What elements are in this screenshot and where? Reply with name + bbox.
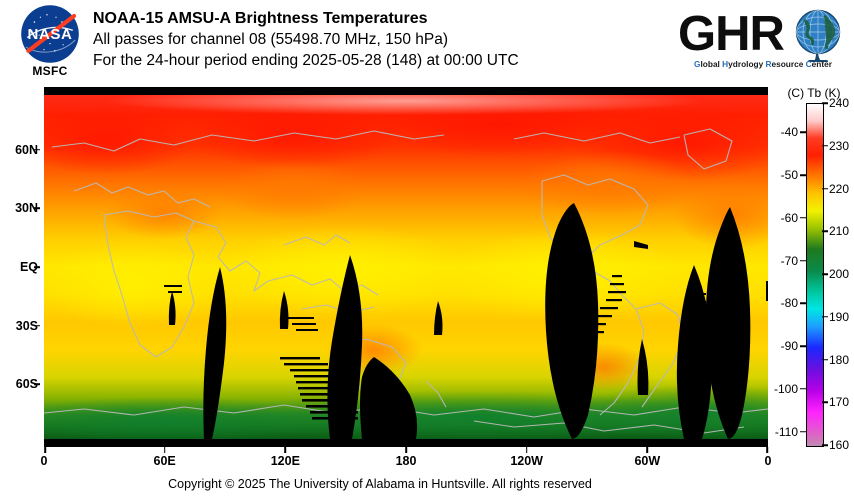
latitude-tick-mark (34, 383, 40, 385)
ghrc-wordmark-icon: GHR (676, 4, 848, 62)
colorbar-label-kelvin: 180 (829, 353, 849, 367)
colorbar-tick-celsius (800, 388, 806, 390)
longitude-tick-mark (526, 447, 528, 453)
colorbar-tick-celsius (800, 260, 806, 262)
title-subline-channel: All passes for channel 08 (55498.70 MHz,… (93, 29, 653, 50)
colorbar-label-celsius: -50 (781, 168, 798, 182)
colorbar-label-kelvin: 190 (829, 310, 849, 324)
longitude-tick-mark (766, 447, 768, 453)
colorbar-tick-kelvin (822, 145, 828, 147)
svg-text:NASA: NASA (28, 26, 73, 43)
ghrc-logo: GHR Global Hydrology Resource Center (676, 4, 848, 82)
longitude-tick-label: 0 (41, 454, 48, 468)
nasa-logo-caption: MSFC (12, 64, 88, 78)
svg-text:GHR: GHR (678, 7, 785, 61)
ghrc-subtitle: Global Hydrology Resource Center (678, 59, 848, 69)
longitude-tick-label: 180 (396, 454, 417, 468)
colorbar-label-kelvin: 240 (829, 96, 849, 110)
nasa-logo: NASA MSFC (12, 4, 88, 84)
map-plot-area[interactable] (44, 95, 768, 439)
colorbar-label-kelvin: 220 (829, 182, 849, 196)
longitude-tick-mark (285, 447, 287, 453)
colorbar-tick-kelvin (822, 231, 828, 233)
map-frame (44, 87, 768, 447)
colorbar-tick-celsius (800, 303, 806, 305)
latitude-axis-ticks (0, 87, 44, 447)
colorbar (806, 103, 824, 447)
colorbar-label-celsius: -40 (781, 125, 798, 139)
latitude-tick-mark (34, 149, 40, 151)
latitude-tick-mark (34, 266, 40, 268)
title-subline-period: For the 24-hour period ending 2025-05-28… (93, 50, 653, 71)
longitude-tick-label: 120W (510, 454, 543, 468)
latitude-tick-mark (34, 325, 40, 327)
header: NASA MSFC NOAA-15 AMSU-A Brightness Temp… (0, 0, 854, 88)
longitude-tick-label: 0 (765, 454, 772, 468)
colorbar-tick-kelvin (822, 444, 828, 446)
longitude-tick-mark (647, 447, 649, 453)
title-block: NOAA-15 AMSU-A Brightness Temperatures A… (93, 8, 653, 71)
colorbar-tick-kelvin (822, 102, 828, 104)
colorbar-tick-kelvin (822, 188, 828, 190)
longitude-axis: 060E120E180120W60W0 (44, 447, 768, 473)
colorbar-label-kelvin: 230 (829, 139, 849, 153)
colorbar-label-celsius: -110 (775, 425, 798, 439)
longitude-tick-mark (44, 447, 46, 453)
colorbar-block: (C) Tb (K) 240230220210200190180170160-4… (776, 86, 854, 452)
colorbar-tick-celsius (800, 132, 806, 134)
colorbar-label-celsius: -70 (781, 254, 798, 268)
colorbar-label-kelvin: 200 (829, 267, 849, 281)
colorbar-gradient (807, 104, 823, 446)
latitude-tick-mark (34, 208, 40, 210)
colorbar-tick-celsius (800, 174, 806, 176)
colorbar-tick-celsius (800, 431, 806, 433)
page-title: NOAA-15 AMSU-A Brightness Temperatures (93, 8, 653, 29)
colorbar-label-celsius: -80 (781, 296, 798, 310)
colorbar-tick-kelvin (822, 316, 828, 318)
colorbar-tick-kelvin (822, 359, 828, 361)
colorbar-label-celsius: -100 (774, 382, 798, 396)
colorbar-label-celsius: -60 (781, 211, 798, 225)
longitude-tick-mark (405, 447, 407, 453)
brightness-temperature-heatmap (44, 95, 768, 439)
colorbar-label-kelvin: 160 (829, 438, 849, 452)
colorbar-tick-celsius (800, 217, 806, 219)
copyright-notice: Copyright © 2025 The University of Alaba… (0, 477, 760, 491)
colorbar-label-kelvin: 170 (829, 395, 849, 409)
colorbar-tick-kelvin (822, 273, 828, 275)
colorbar-tick-celsius (800, 345, 806, 347)
longitude-tick-label: 60E (154, 454, 176, 468)
colorbar-tick-kelvin (822, 402, 828, 404)
colorbar-label-kelvin: 210 (829, 224, 849, 238)
longitude-tick-mark (164, 447, 166, 453)
colorbar-label-celsius: -90 (781, 339, 798, 353)
nasa-meatball-icon: NASA (20, 4, 80, 64)
longitude-tick-label: 60W (634, 454, 660, 468)
longitude-tick-label: 120E (271, 454, 300, 468)
